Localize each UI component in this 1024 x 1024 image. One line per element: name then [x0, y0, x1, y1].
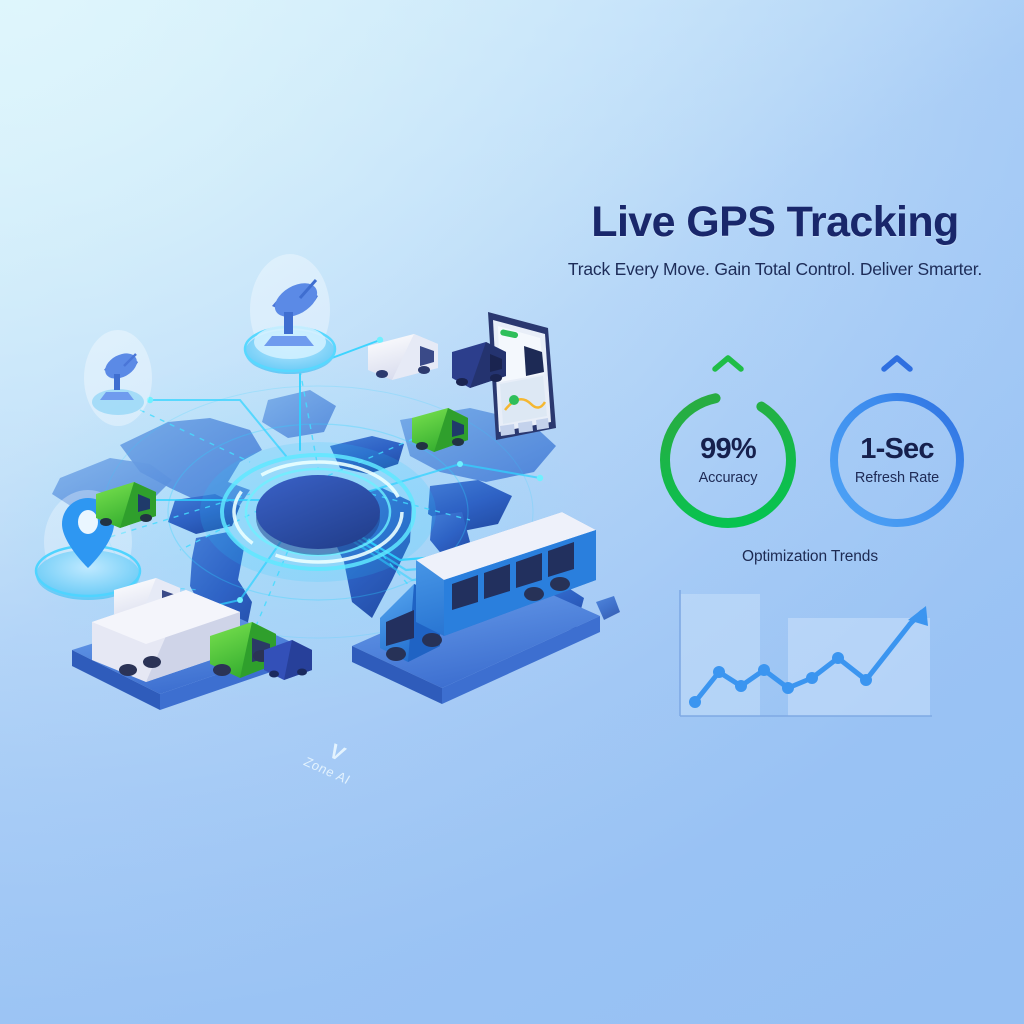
chevron-up-icon [711, 353, 745, 373]
gauge-accuracy: 99% Accuracy [653, 385, 803, 535]
gauge-refresh-rate-value: 1-Sec [860, 435, 933, 464]
hero-banner: V Zone AI Live GPS Tracking Track Every … [0, 0, 1024, 1024]
navy-truck [452, 342, 506, 388]
chart-highlight-band [788, 618, 930, 716]
chart-canvas [660, 576, 960, 736]
isometric-map-illustration: V Zone AI [0, 250, 620, 780]
gauge-refresh-rate-caption: Refresh Rate [855, 470, 939, 486]
page-title: Live GPS Tracking [540, 200, 1010, 245]
gauge-accuracy-caption: Accuracy [699, 470, 758, 486]
satellite-dish-left-icon [84, 330, 152, 426]
optimization-trends-chart: Optimization Trends [660, 548, 960, 738]
satellite-dish-top-icon [245, 254, 335, 374]
page-subtitle: Track Every Move. Gain Total Control. De… [540, 259, 1010, 280]
chart-title: Optimization Trends [660, 548, 960, 566]
gauge-accuracy-value: 99% [700, 435, 756, 464]
hero-text-block: Live GPS Tracking Track Every Move. Gain… [540, 200, 1010, 280]
stat-gauges: 99% Accuracy 1-Sec Refresh Rate [640, 345, 1000, 545]
central-hub [200, 442, 436, 582]
gauge-refresh-rate: 1-Sec Refresh Rate [822, 385, 972, 535]
chevron-up-icon [880, 353, 914, 373]
